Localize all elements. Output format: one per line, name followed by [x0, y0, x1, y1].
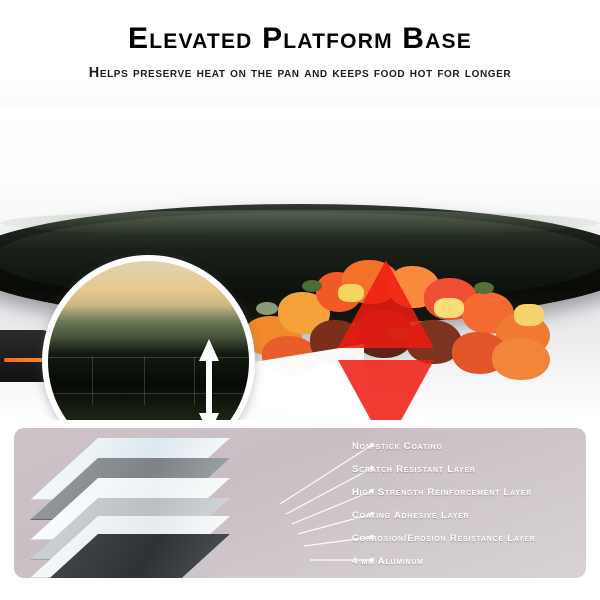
- page-title: Elevated Platform Base: [0, 21, 600, 57]
- layer-label: Corrosion/Erosion Resistance Layer: [352, 533, 536, 544]
- infographic-page: Elevated Platform Base Helps preserve he…: [0, 0, 600, 600]
- layer-label: Scratch Resistant Layer: [352, 464, 476, 475]
- layer-labels: Non-stick Coating Scratch Resistant Laye…: [352, 436, 592, 578]
- red-arrow-down: [338, 360, 434, 420]
- layer-label: Non-stick Coating: [352, 441, 443, 452]
- header-section: Elevated Platform Base Helps preserve he…: [0, 0, 600, 108]
- elevation-red-arrow: [338, 260, 434, 420]
- exploded-layer-stack: [30, 434, 280, 574]
- magnifier-closeup-image: [48, 261, 249, 420]
- layer-label: Coating Adhesive Layer: [352, 510, 469, 521]
- layer-label: High Strength Reinforcement Layer: [352, 487, 532, 498]
- layer-label: 4 mm Aluminum: [352, 556, 424, 567]
- pan-rim-highlight: [0, 210, 600, 236]
- product-photo-panel: [0, 108, 600, 420]
- height-indicator-arrow: [198, 339, 220, 420]
- red-arrow-up: [338, 260, 434, 348]
- page-subtitle: Helps preserve heat on the pan and keeps…: [0, 64, 600, 82]
- handle-accent-stripe: [4, 358, 44, 362]
